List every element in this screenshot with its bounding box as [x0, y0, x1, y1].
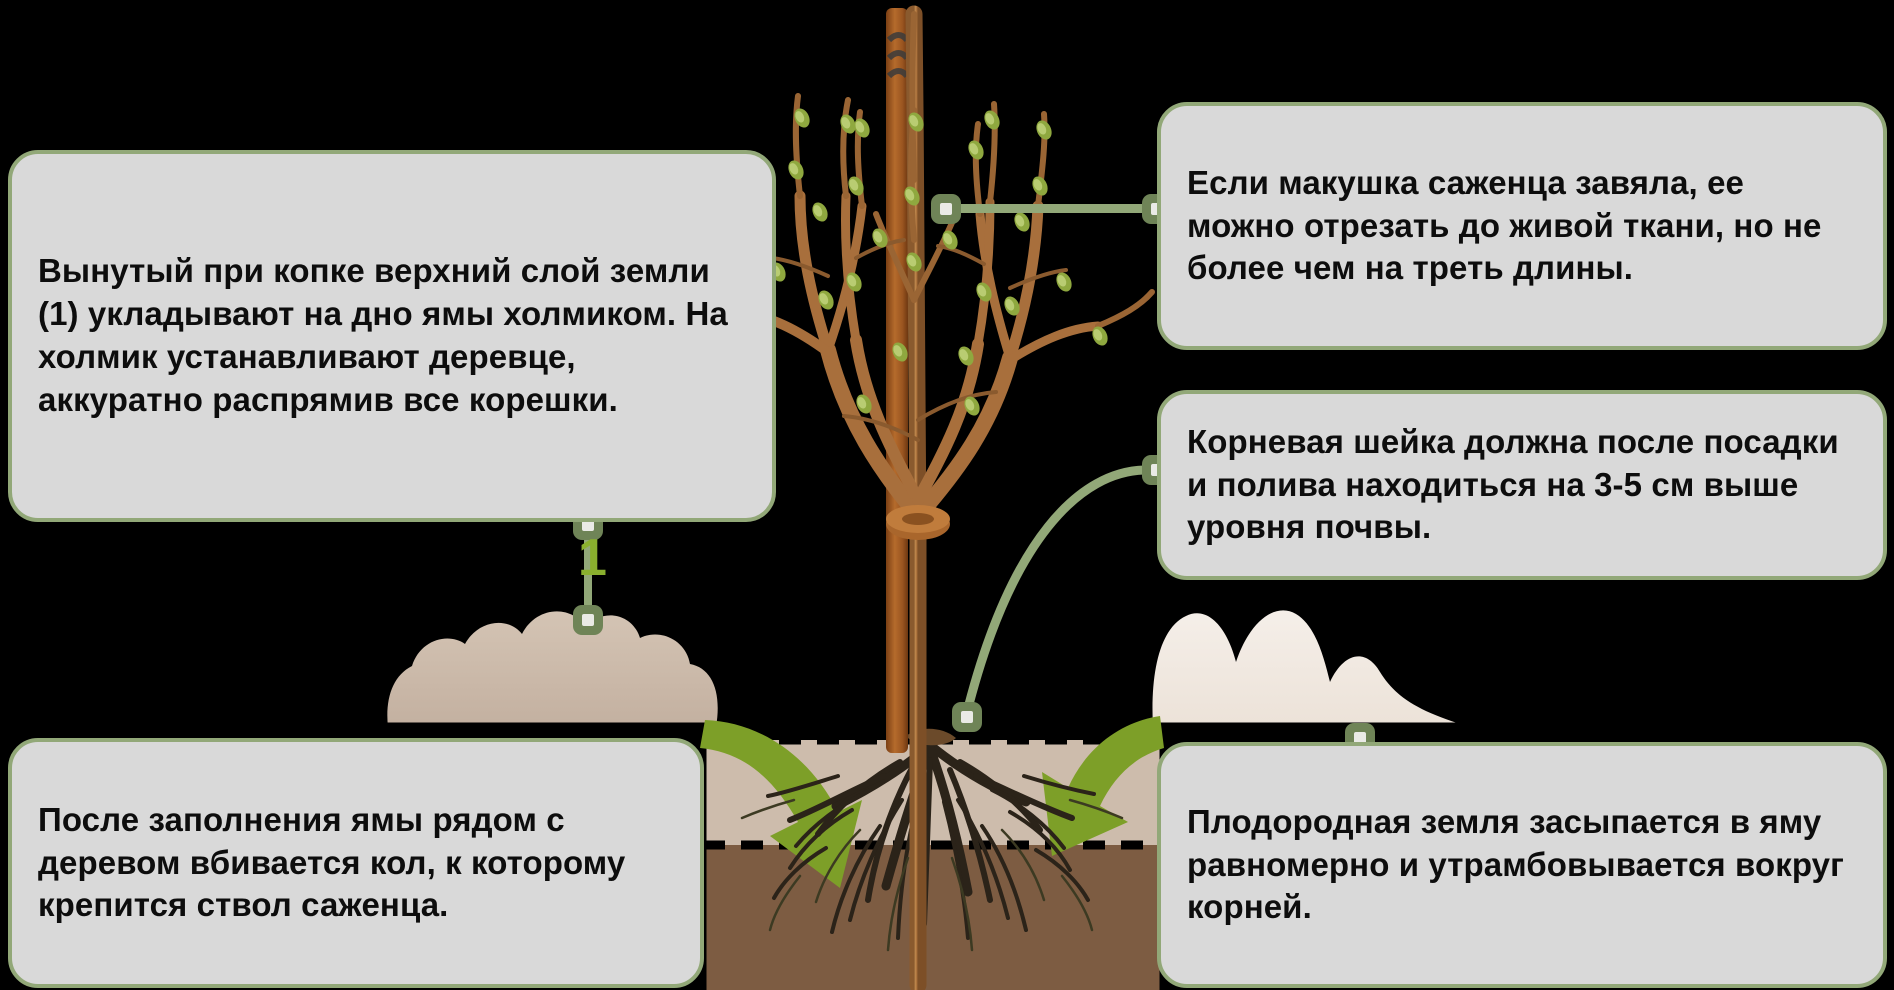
trunk-tie	[886, 505, 950, 540]
support-stake	[886, 8, 908, 753]
callout-mid-right[interactable]: Корневая шейка должна после посадки и по…	[1157, 390, 1887, 580]
callout-mid-right-text: Корневая шейка должна после посадки и по…	[1187, 421, 1857, 550]
callout-top-right-text: Если макушка саженца завяла, ее можно от…	[1187, 162, 1857, 291]
callout-bottom-right-text: Плодородная земля засыпается в яму равно…	[1187, 801, 1857, 930]
callout-top-right[interactable]: Если макушка саженца завяла, ее можно от…	[1157, 102, 1887, 350]
infographic-canvas: 1 2 Вынутый при копке верхний слой земли…	[0, 0, 1894, 990]
connector-line-crown	[946, 204, 1161, 213]
callout-bottom-left[interactable]: После заполнения ямы рядом с деревом вби…	[8, 738, 704, 988]
connector-node-crown-left	[931, 194, 961, 224]
callout-top-left-text: Вынутый при копке верхний слой земли (1)…	[38, 250, 746, 422]
soil-mound-2	[1151, 610, 1472, 727]
root-system	[742, 729, 1122, 950]
callout-bottom-left-text: После заполнения ямы рядом с деревом вби…	[38, 799, 674, 928]
callout-top-left[interactable]: Вынутый при копке верхний слой земли (1)…	[8, 150, 776, 522]
fill-soil-arrows	[700, 716, 1164, 888]
connector-root-collar	[966, 470, 1147, 716]
connector-node-mound-1	[573, 605, 603, 635]
planting-pit	[703, 733, 1163, 990]
callout-bottom-right[interactable]: Плодородная земля засыпается в яму равно…	[1157, 742, 1887, 988]
soil-mound-1	[386, 611, 718, 727]
connector-node-root-collar	[952, 702, 982, 732]
leaf-buds	[725, 106, 1110, 418]
mound-1-number: 1	[578, 532, 607, 584]
